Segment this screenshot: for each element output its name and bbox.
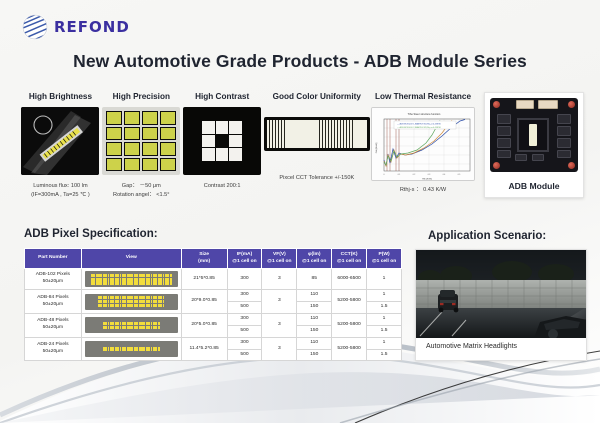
header-line-1: IF(mA) <box>229 252 261 259</box>
feature-low-thermal-resistance: Low Thermal Resistance Tthe Steer struct… <box>371 92 475 199</box>
cell-power-w: 1.5 <box>367 325 402 337</box>
cell-power-w: 1 <box>367 313 402 325</box>
caption-line-1: Contrast 200:1 <box>182 182 263 191</box>
application-caption: Automotive Matrix Headlights <box>416 338 586 350</box>
svg-text:0.4: 0.4 <box>443 174 446 176</box>
spec-section-title: ADB Pixel Specification: <box>24 228 158 240</box>
part-number-line-2: 50±20μm <box>26 349 80 356</box>
color-uniformity-photo <box>264 117 370 151</box>
cell-power-w: 1.5 <box>367 302 402 314</box>
application-section-title: Application Scenario: <box>428 230 546 242</box>
header-line-1: View <box>83 255 180 262</box>
cell-flux-lm: 110 <box>297 290 332 302</box>
high-precision-photo <box>102 107 180 175</box>
header-line-1: Size <box>183 252 226 259</box>
header-line-1: CCT(K) <box>333 252 365 259</box>
uniformity-pixel-grid <box>267 120 367 148</box>
contrast-pixel-grid <box>202 121 242 161</box>
part-number-line-2: 50±20μm <box>26 279 80 286</box>
feature-strip: High Brightness <box>20 92 475 199</box>
feature-caption: Pixcel CCT Tolerance +/-150K <box>263 174 371 183</box>
feature-caption: Luminous flux: 100 lm (IF=300mA , Ta=25 … <box>20 182 101 199</box>
pixel-array-thumbnail <box>85 317 178 333</box>
cell-flux-lm: 85 <box>297 269 332 290</box>
caption-line-1: Gap： －50 μm <box>101 182 182 191</box>
brand-logo: REFOND <box>22 14 130 40</box>
table-row: ADB-48 Pixels50±20μm20*5.0*0.85300311052… <box>25 313 402 325</box>
cell-power-w: 1 <box>367 337 402 349</box>
pixel-array-thumbnail <box>85 341 178 357</box>
header-line-1: Part Number <box>26 255 80 262</box>
cell-view <box>81 269 181 290</box>
column-header-7: P(W)@1 cell on <box>367 249 402 269</box>
header-line-2: @1 cell on <box>298 259 330 266</box>
cell-if-ma: 500 <box>227 349 262 361</box>
header-line-2: (mm) <box>183 259 226 266</box>
cell-cct-k: 6000-6500 <box>332 269 367 290</box>
cell-if-ma: 300 <box>227 337 262 349</box>
cell-part-number: ADB-48 Pixels50±20μm <box>25 313 82 337</box>
adb-pixel-specification-table: Part NumberViewSize(mm)IF(mA)@1 cell onV… <box>24 248 402 361</box>
caption-line-2: (IF=300mA , Ta=25 ℃ ) <box>20 191 101 200</box>
column-header-4: VF(V)@1 cell on <box>262 249 297 269</box>
feature-title: High Contrast <box>182 92 263 101</box>
pixel-array-thumbnail <box>85 294 178 310</box>
cell-if-ma: 300 <box>227 313 262 325</box>
feature-caption: Contrast 200:1 <box>182 182 263 191</box>
cell-vf-v: 3 <box>262 290 297 314</box>
page-title: New Automotive Grade Products - ADB Modu… <box>0 51 600 72</box>
table-row: ADB-84 Pixels50±20μm20*9.0*0.85300311052… <box>25 290 402 302</box>
cell-size: 11.4*5.2*0.85 <box>181 337 227 361</box>
cell-size: 20*9.0*0.85 <box>181 290 227 314</box>
feature-high-contrast: High Contrast Contrast 200:1 <box>182 92 263 199</box>
feature-title: High Precision <box>101 92 182 101</box>
feature-color-uniformity: Good Color Uniformity Pixcel CCT Toleran… <box>263 92 371 199</box>
table-row: ADB-102 Pixels50±20μm21*5*0.853003856000… <box>25 269 402 290</box>
night-road-photo <box>416 250 586 338</box>
svg-text:0.2: 0.2 <box>413 174 416 176</box>
part-number-line-2: 50±20μm <box>26 302 80 309</box>
cell-cct-k: 5200-5800 <box>332 290 367 314</box>
header-line-1: P(W) <box>368 252 400 259</box>
cell-vf-v: 3 <box>262 337 297 361</box>
feature-title: High Brightness <box>20 92 101 101</box>
cell-if-ma: 300 <box>227 269 262 290</box>
part-number-line-1: ADB-84 Pixels <box>26 295 80 302</box>
svg-text:— ADB MODULE 1,SAMPLE N1,Rthj-: — ADB MODULE 1,SAMPLE N1,Rthj-s≈0.43K/W <box>397 123 441 126</box>
cell-size: 21*5*0.85 <box>181 269 227 290</box>
cell-cct-k: 5200-5800 <box>332 337 367 361</box>
cell-power-w: 1 <box>367 290 402 302</box>
feature-high-precision: High Precision Gap： －50 μm Rotation ange… <box>101 92 182 199</box>
column-header-1: View <box>81 249 181 269</box>
cell-cct-k: 5200-5800 <box>332 313 367 337</box>
adb-module-label: ADB Module <box>484 181 584 191</box>
slide-canvas: REFOND New Automotive Grade Products - A… <box>0 0 600 423</box>
thermal-structure-function-chart: Tthe Steer structure function <box>371 107 475 181</box>
cell-flux-lm: 150 <box>297 302 332 314</box>
refond-globe-icon <box>22 14 48 40</box>
cell-part-number: ADB-84 Pixels50±20μm <box>25 290 82 314</box>
header-line-2: @1 cell on <box>368 259 400 266</box>
brand-name: REFOND <box>54 18 130 36</box>
cell-view <box>81 313 181 337</box>
svg-text:— ADB MODULE 2,SAMPLE N2,Rthj-: — ADB MODULE 2,SAMPLE N2,Rthj-s≈0.43K/W <box>397 126 441 129</box>
cell-part-number: ADB-102 Pixels50±20μm <box>25 269 82 290</box>
part-number-line-1: ADB-24 Pixels <box>26 342 80 349</box>
column-header-5: φ(lm)@1 cell on <box>297 249 332 269</box>
cell-vf-v: 3 <box>262 313 297 337</box>
high-contrast-photo <box>183 107 261 175</box>
table-row: ADB-24 Pixels50±20μm11.4*5.2*0.853003110… <box>25 337 402 349</box>
header-line-2: @1 cell on <box>229 259 261 266</box>
cell-flux-lm: 110 <box>297 313 332 325</box>
cell-size: 20*5.0*0.85 <box>181 313 227 337</box>
feature-title: Good Color Uniformity <box>263 92 371 101</box>
cell-if-ma: 300 <box>227 290 262 302</box>
header-line-2: @1 cell on <box>333 259 365 266</box>
chart-title: Tthe Steer structure function <box>408 112 441 116</box>
caption-line-1: Rthj-s ： 0.43 K/W <box>371 186 475 195</box>
cell-flux-lm: 110 <box>297 337 332 349</box>
caption-line-1: Pixcel CCT Tolerance +/-150K <box>263 174 371 183</box>
cell-power-w: 1.5 <box>367 349 402 361</box>
header-line-1: VF(V) <box>263 252 295 259</box>
cell-flux-lm: 150 <box>297 325 332 337</box>
header-line-2: @1 cell on <box>263 259 295 266</box>
header-line-1: φ(lm) <box>298 252 330 259</box>
cell-view <box>81 290 181 314</box>
adb-module-pcb-photo <box>490 98 578 172</box>
table-body: ADB-102 Pixels50±20μm21*5*0.853003856000… <box>25 269 402 361</box>
feature-caption: Rthj-s ： 0.43 K/W <box>371 186 475 195</box>
high-brightness-photo <box>21 107 99 175</box>
cell-if-ma: 500 <box>227 325 262 337</box>
svg-text:0.5: 0.5 <box>458 174 461 176</box>
svg-text:0: 0 <box>384 174 385 176</box>
column-header-2: Size(mm) <box>181 249 227 269</box>
feature-title: Low Thermal Resistance <box>371 92 475 101</box>
cell-part-number: ADB-24 Pixels50±20μm <box>25 337 82 361</box>
feature-high-brightness: High Brightness <box>20 92 101 199</box>
caption-line-1: Luminous flux: 100 lm <box>20 182 101 191</box>
svg-text:Cth [Ws/K]: Cth [Ws/K] <box>375 142 378 153</box>
column-header-6: CCT(K)@1 cell on <box>332 249 367 269</box>
cell-view <box>81 337 181 361</box>
column-header-3: IF(mA)@1 cell on <box>227 249 262 269</box>
svg-text:0.1: 0.1 <box>398 174 401 176</box>
svg-text:0.3: 0.3 <box>428 174 431 176</box>
column-header-0: Part Number <box>25 249 82 269</box>
feature-caption: Gap： －50 μm Rotation angel： <1.5° <box>101 182 182 199</box>
pixel-array-thumbnail <box>85 271 178 287</box>
table-header-row: Part NumberViewSize(mm)IF(mA)@1 cell onV… <box>25 249 402 269</box>
cell-flux-lm: 150 <box>297 349 332 361</box>
cell-vf-v: 3 <box>262 269 297 290</box>
cell-power-w: 1 <box>367 269 402 290</box>
cell-if-ma: 500 <box>227 302 262 314</box>
application-scenario-card: Automotive Matrix Headlights <box>415 249 587 361</box>
caption-line-2: Rotation angel： <1.5° <box>101 191 182 200</box>
svg-text:Rth [K/W]: Rth [K/W] <box>422 178 432 181</box>
part-number-line-2: 50±20μm <box>26 325 80 332</box>
